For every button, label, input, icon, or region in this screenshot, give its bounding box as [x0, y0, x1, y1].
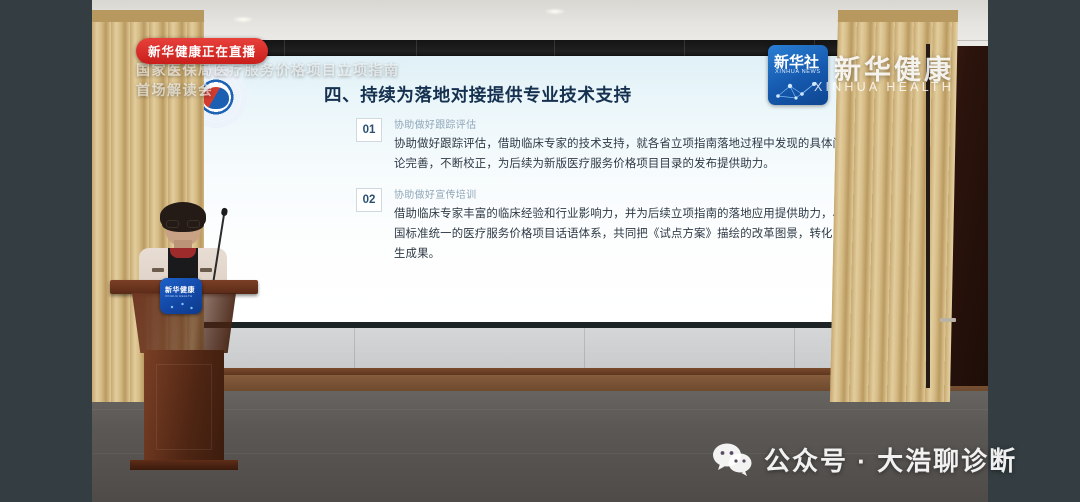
letterbox-bar-right	[988, 0, 1080, 502]
slide-title: 四、持续为落地对接提供专业技术支持	[324, 82, 632, 107]
jacket-button	[152, 268, 164, 272]
item-subtitle: 协助做好跟踪评估	[394, 116, 476, 131]
item-number: 01	[356, 118, 382, 142]
ceiling-light	[544, 8, 566, 15]
xinhua-logo-en: XINHUA NEWS	[775, 69, 821, 75]
video-player-stage: 四、持续为落地对接提供专业技术支持 01 协助做好跟踪评估 协助做好跟踪评估，借…	[0, 0, 1080, 502]
item-number: 02	[356, 188, 382, 212]
item-body: 借助临床专家丰富的临床经验和行业影响力，并为后续立项指南的落地应用提供助力，尽快…	[394, 204, 894, 264]
xinhua-news-logo: 新华社 XINHUA NEWS	[768, 45, 828, 105]
live-video-frame: 四、持续为落地对接提供专业技术支持 01 协助做好跟踪评估 协助做好跟踪评估，借…	[92, 0, 988, 502]
item-subtitle: 协助做好宣传培训	[394, 186, 476, 201]
channel-watermark-text: 公众号 · 大浩聊诊断	[764, 441, 1017, 478]
lectern-podium: 新华健康 XINHUA HEALTH	[110, 280, 258, 480]
xinhua-health-watermark-en: XINHUA HEALTH	[814, 80, 954, 94]
door-frame	[926, 44, 930, 388]
presentation-slide: 四、持续为落地对接提供专业技术支持 01 协助做好跟踪评估 协助做好跟踪评估，借…	[158, 56, 948, 324]
live-status-badge: 新华健康正在直播	[136, 38, 268, 64]
jacket-button	[200, 268, 212, 272]
podium-brand-badge: 新华健康 XINHUA HEALTH	[160, 278, 202, 314]
channel-watermark: 公众号 · 大浩聊诊断	[712, 441, 1017, 478]
speaker-glasses-icon	[166, 220, 200, 228]
podium-column	[144, 350, 224, 462]
podium-badge-network-icon	[166, 301, 196, 311]
item-body: 协助做好跟踪评估，借助临床专家的技术支持，就各省立项指南落地过程中发现的具体问题…	[394, 134, 894, 174]
ceiling-light	[232, 16, 254, 23]
stream-headline-line2: 首场解读会	[136, 80, 214, 100]
screen-bottom-frame	[158, 322, 948, 328]
podium-badge-en: XINHUA HEALTH	[165, 294, 193, 298]
door-handle	[940, 318, 956, 322]
wechat-icon	[712, 443, 752, 477]
letterbox-bar-left	[0, 0, 92, 502]
podium-base	[130, 460, 238, 470]
projection-screen: 四、持续为落地对接提供专业技术支持 01 协助做好跟踪评估 协助做好跟踪评估，借…	[158, 56, 948, 324]
speaker-scarf	[170, 248, 196, 258]
